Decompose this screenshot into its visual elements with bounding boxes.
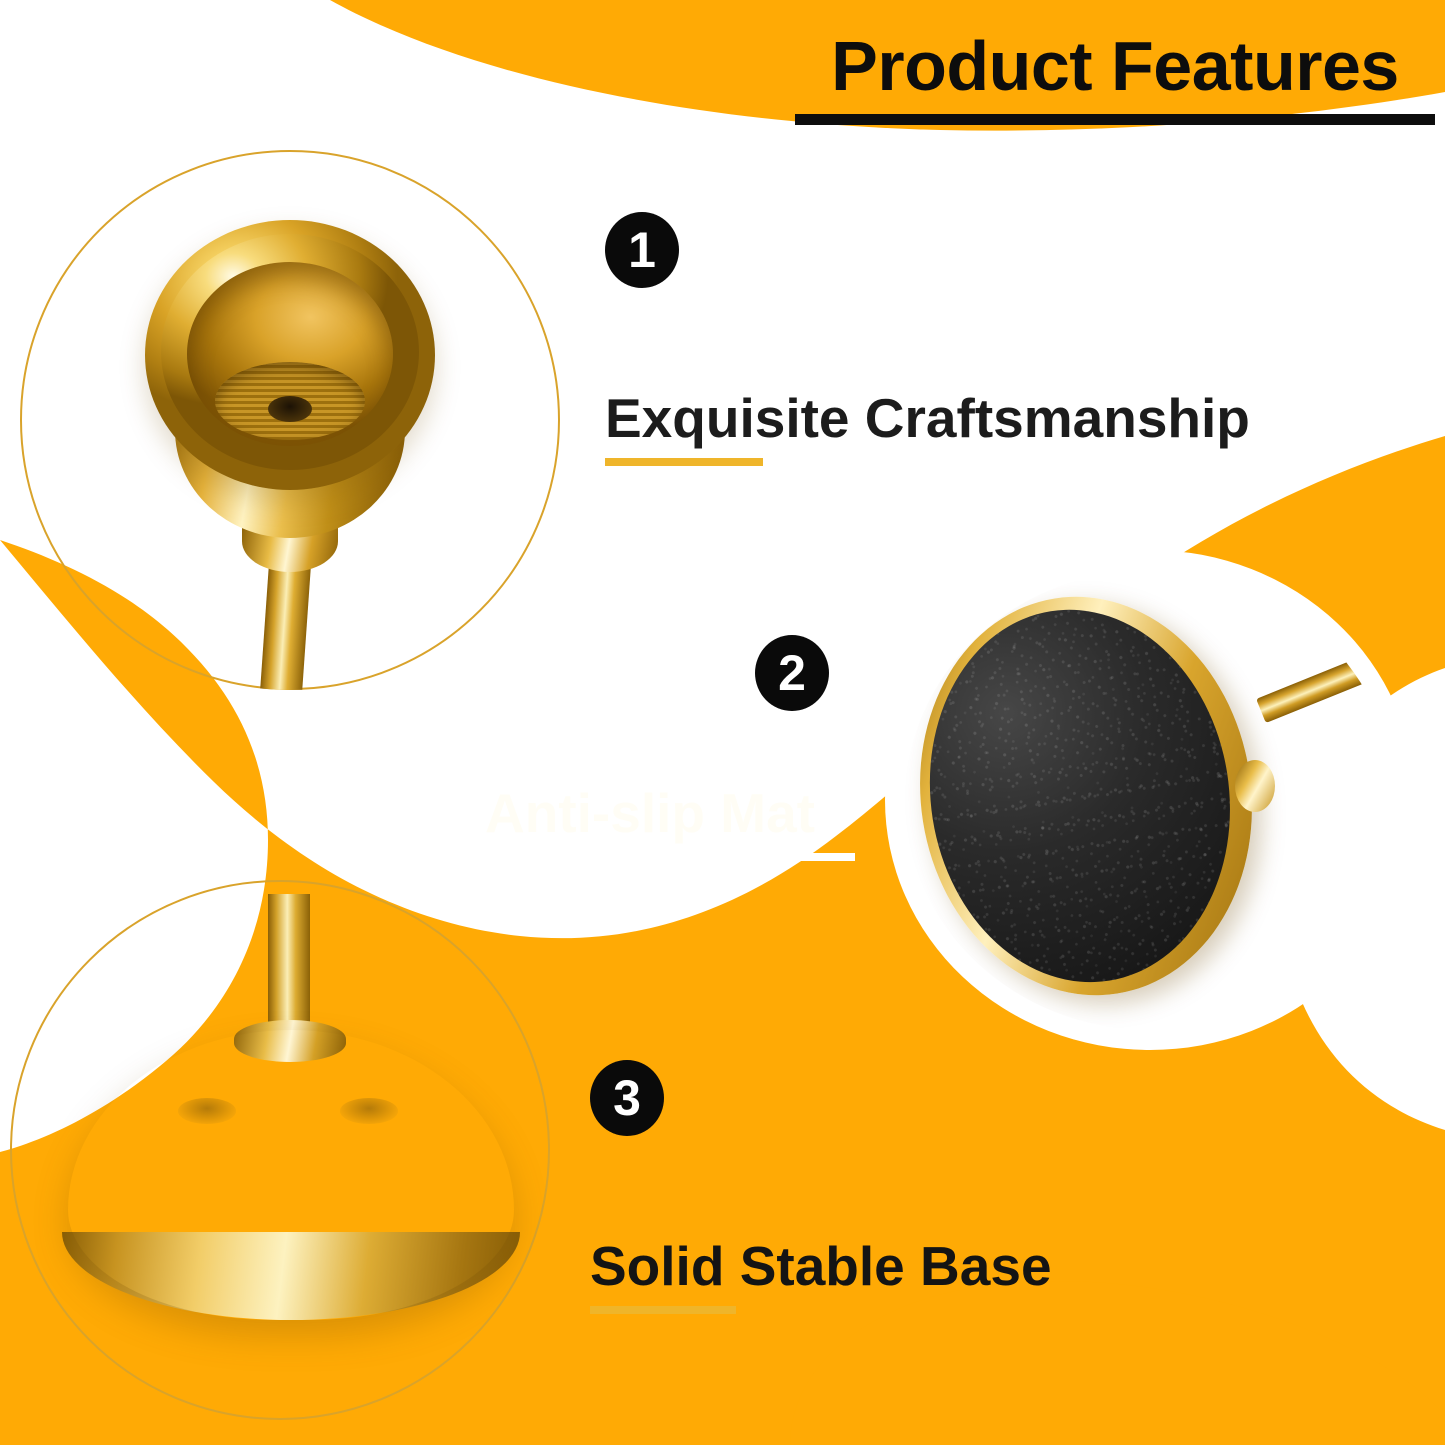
mat-center-hub — [1235, 760, 1275, 812]
infographic-canvas: Product Features 1 Exquisite Craftsmansh… — [0, 0, 1445, 1445]
base-dimple-left — [178, 1098, 236, 1124]
product-photo-candle-cup — [20, 150, 560, 690]
feature-item-1: 1 Exquisite Craftsmanship — [605, 212, 1250, 466]
base-stem — [268, 894, 310, 1034]
feature-item-2: 2 Anti-slip Mat — [485, 635, 855, 861]
feature-2-underline — [703, 853, 855, 861]
product-photo-anti-slip-mat — [905, 570, 1395, 1030]
cup-center-hole — [268, 396, 312, 422]
candle-cup-illustration — [20, 150, 560, 690]
feature-3-underline — [590, 1306, 736, 1314]
feature-3-number-badge: 3 — [590, 1060, 664, 1136]
feature-1-underline — [605, 458, 763, 466]
product-photo-solid-base — [10, 880, 550, 1420]
feature-2-number-badge: 2 — [755, 635, 829, 711]
page-title: Product Features — [795, 30, 1435, 104]
feature-2-label: Anti-slip Mat — [485, 783, 855, 844]
title-underline — [795, 114, 1435, 125]
feature-1-label: Exquisite Craftsmanship — [605, 388, 1250, 449]
base-cone — [68, 1030, 514, 1320]
feature-item-3: 3 Solid Stable Base — [590, 1060, 1052, 1314]
base-dimple-right — [340, 1098, 398, 1124]
feature-3-label: Solid Stable Base — [590, 1236, 1052, 1297]
cup-stem — [257, 563, 311, 690]
title-block: Product Features — [795, 30, 1435, 125]
feature-1-number-badge: 1 — [605, 212, 679, 288]
